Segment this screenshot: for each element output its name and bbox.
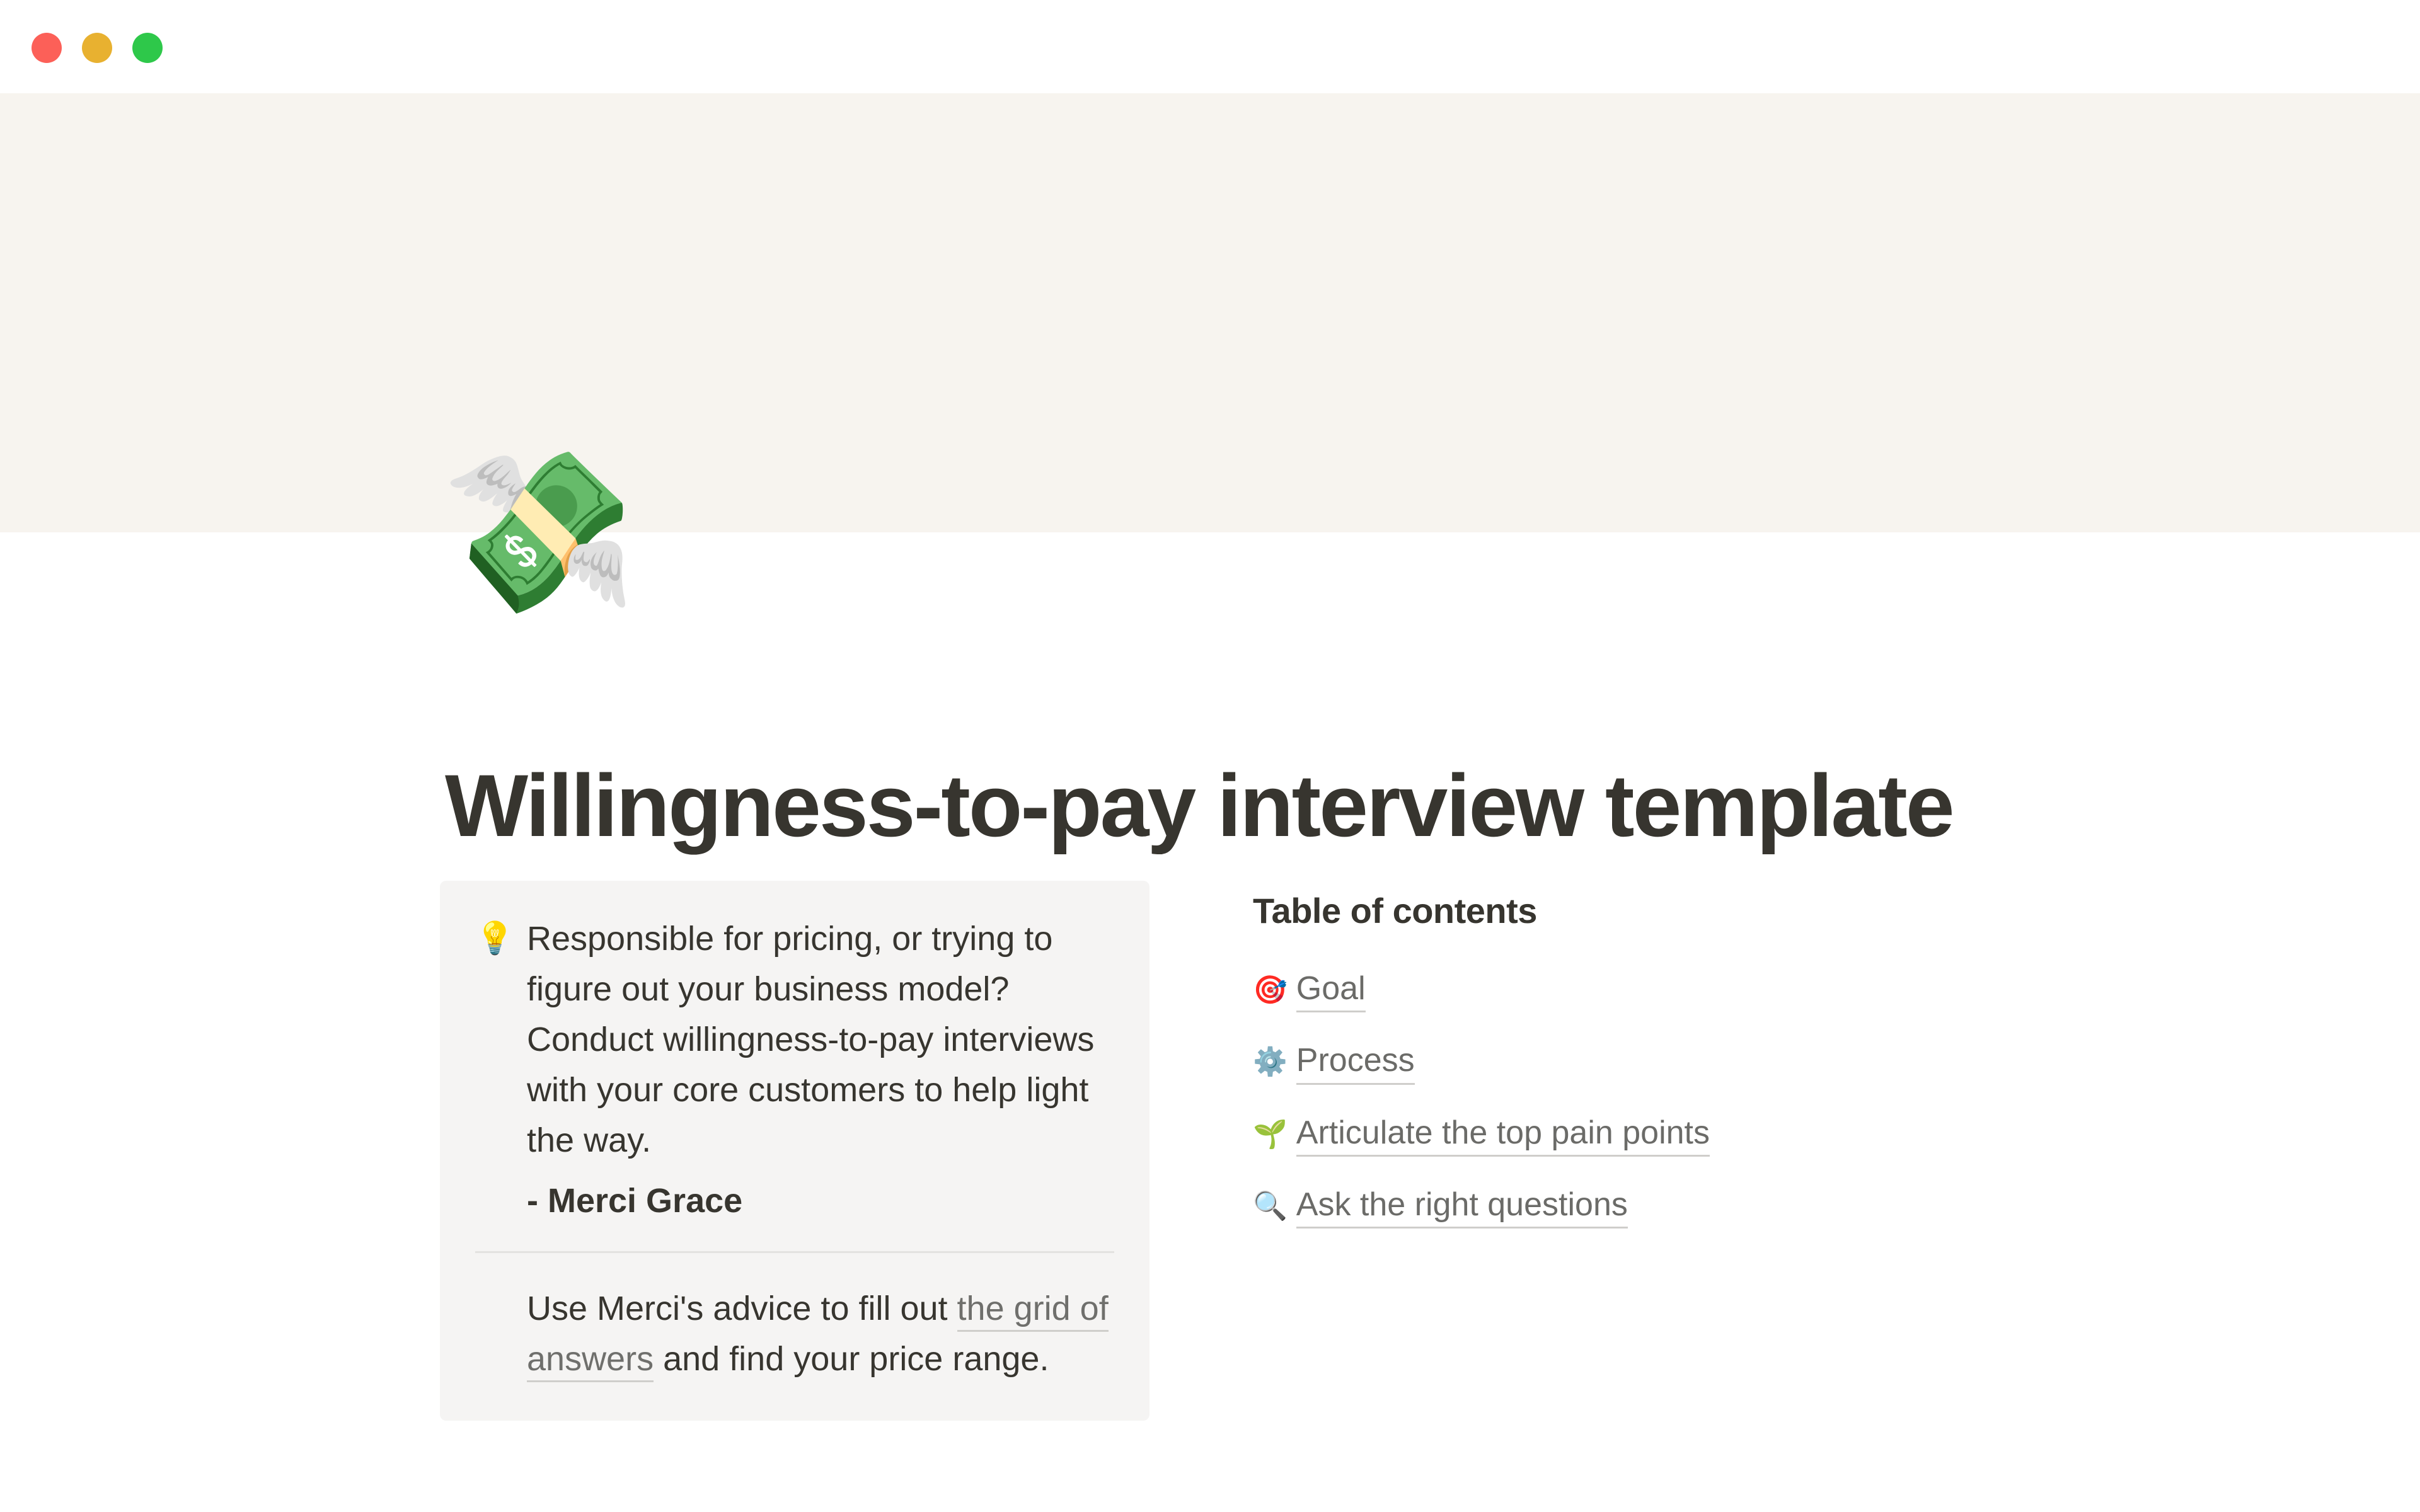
toc-link-process[interactable]: Process bbox=[1296, 1043, 1415, 1084]
toc-item-articulate-pain-points[interactable]: 🌱 Articulate the top pain points bbox=[1253, 1115, 1710, 1157]
content-columns: 💡 Responsible for pricing, or trying to … bbox=[440, 881, 1984, 1448]
page-content: 💸 Willingness-to-pay interview template … bbox=[0, 0, 2420, 1512]
table-of-contents: Table of contents 🎯 Goal ⚙️ Process 🌱 Ar… bbox=[1253, 890, 1978, 1259]
callout-block[interactable]: 💡 Responsible for pricing, or trying to … bbox=[440, 881, 1149, 1421]
callout-attribution: - Merci Grace bbox=[527, 1176, 1114, 1226]
toc-item-process[interactable]: ⚙️ Process bbox=[1253, 1043, 1415, 1084]
callout-body-text: Responsible for pricing, or trying to fi… bbox=[527, 913, 1114, 1165]
toc-link-goal[interactable]: Goal bbox=[1296, 971, 1366, 1012]
money-with-wings-emoji[interactable]: 💸 bbox=[441, 441, 624, 624]
callout-footer-text: Use Merci's advice to fill out the grid … bbox=[527, 1283, 1114, 1384]
light-bulb-emoji: 💡 bbox=[475, 913, 509, 963]
callout-footer-prefix: Use Merci's advice to fill out bbox=[527, 1290, 957, 1327]
toc-link-ask-right-questions[interactable]: Ask the right questions bbox=[1296, 1187, 1628, 1228]
magnifying-glass-emoji: 🔍 bbox=[1253, 1193, 1288, 1220]
callout-top-row: 💡 Responsible for pricing, or trying to … bbox=[475, 913, 1114, 1226]
toc-heading: Table of contents bbox=[1253, 890, 1978, 932]
callout-text-wrap: Responsible for pricing, or trying to fi… bbox=[527, 913, 1114, 1226]
callout-footer-suffix: and find your price range. bbox=[654, 1340, 1049, 1378]
toc-link-articulate-pain-points[interactable]: Articulate the top pain points bbox=[1296, 1115, 1710, 1157]
toc-item-ask-right-questions[interactable]: 🔍 Ask the right questions bbox=[1253, 1187, 1628, 1228]
seedling-emoji: 🌱 bbox=[1253, 1121, 1288, 1148]
callout-divider bbox=[475, 1251, 1114, 1253]
gear-emoji: ⚙️ bbox=[1253, 1048, 1288, 1076]
app-window: 💸 Willingness-to-pay interview template … bbox=[0, 0, 2420, 1512]
callout-inner: 💡 Responsible for pricing, or trying to … bbox=[475, 913, 1114, 1384]
toc-item-goal[interactable]: 🎯 Goal bbox=[1253, 971, 1366, 1012]
direct-hit-emoji: 🎯 bbox=[1253, 976, 1288, 1004]
toc-list: 🎯 Goal ⚙️ Process 🌱 Articulate the top p… bbox=[1253, 971, 1978, 1228]
page-title[interactable]: Willingness-to-pay interview template bbox=[445, 755, 2210, 856]
